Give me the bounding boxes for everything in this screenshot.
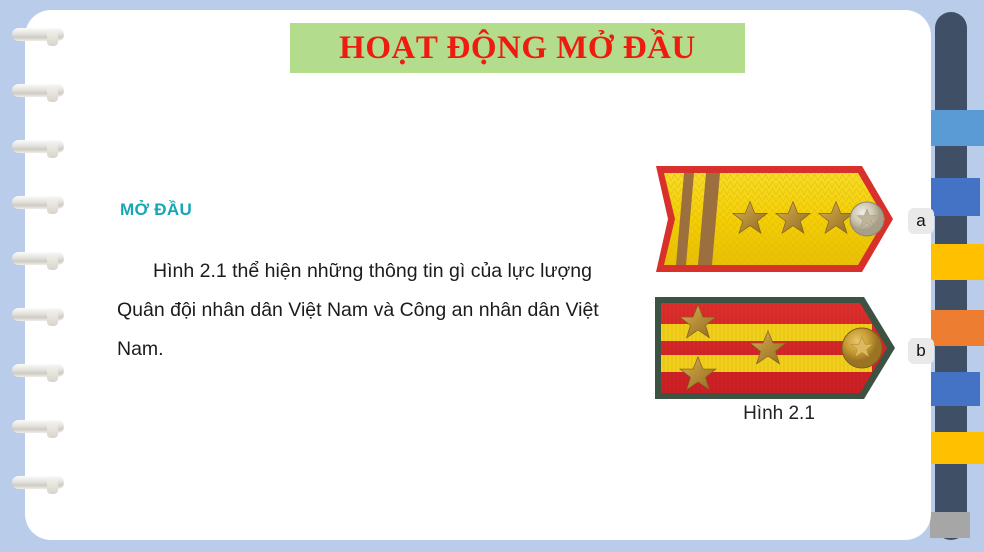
spiral-ring <box>12 140 64 153</box>
spiral-ring <box>12 252 64 265</box>
body-paragraph: Hình 2.1 thể hiện những thông tin gì của… <box>117 252 637 369</box>
rail-stripe <box>930 512 970 538</box>
epaulette-a-svg <box>650 160 915 278</box>
spiral-ring <box>12 84 64 97</box>
spiral-ring <box>12 28 64 41</box>
section-heading: MỞ ĐẦU <box>120 200 192 220</box>
figure-caption: Hình 2.1 <box>640 403 918 425</box>
epaulette-image-a: a <box>650 160 915 278</box>
notebook-page: HOẠT ĐỘNG MỞ ĐẦU MỞ ĐẦU Hình 2.1 thể hiệ… <box>25 10 931 540</box>
slide-title-banner: HOẠT ĐỘNG MỞ ĐẦU <box>290 23 745 73</box>
figure-block: a <box>640 155 940 430</box>
figure-sublabel-b: b <box>908 338 934 364</box>
epaulette-b-svg <box>650 293 915 403</box>
epaulette-image-b: b <box>650 293 915 403</box>
spiral-ring <box>12 308 64 321</box>
spiral-ring <box>12 476 64 489</box>
spiral-ring <box>12 420 64 433</box>
spiral-ring <box>12 196 64 209</box>
rail-stripe <box>930 432 984 464</box>
rail-stripe <box>930 110 984 146</box>
spiral-ring <box>12 364 64 377</box>
page-title: HOẠT ĐỘNG MỞ ĐẦU <box>339 30 696 67</box>
figure-sublabel-a: a <box>908 208 934 234</box>
